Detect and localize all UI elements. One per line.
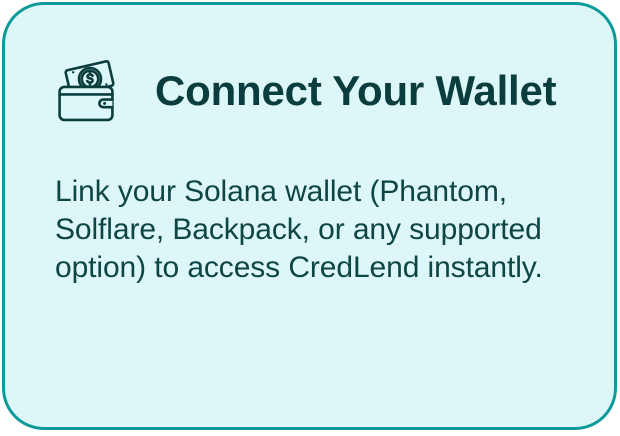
wallet-with-cash-icon: [55, 58, 117, 124]
screenshot-root: Connect Your Wallet Link your Solana wal…: [0, 0, 620, 436]
connect-wallet-card: Connect Your Wallet Link your Solana wal…: [2, 2, 617, 430]
card-header: Connect Your Wallet: [55, 57, 556, 125]
page-title: Connect Your Wallet: [155, 70, 556, 112]
card-description: Link your Solana wallet (Phantom, Solfla…: [55, 173, 577, 287]
